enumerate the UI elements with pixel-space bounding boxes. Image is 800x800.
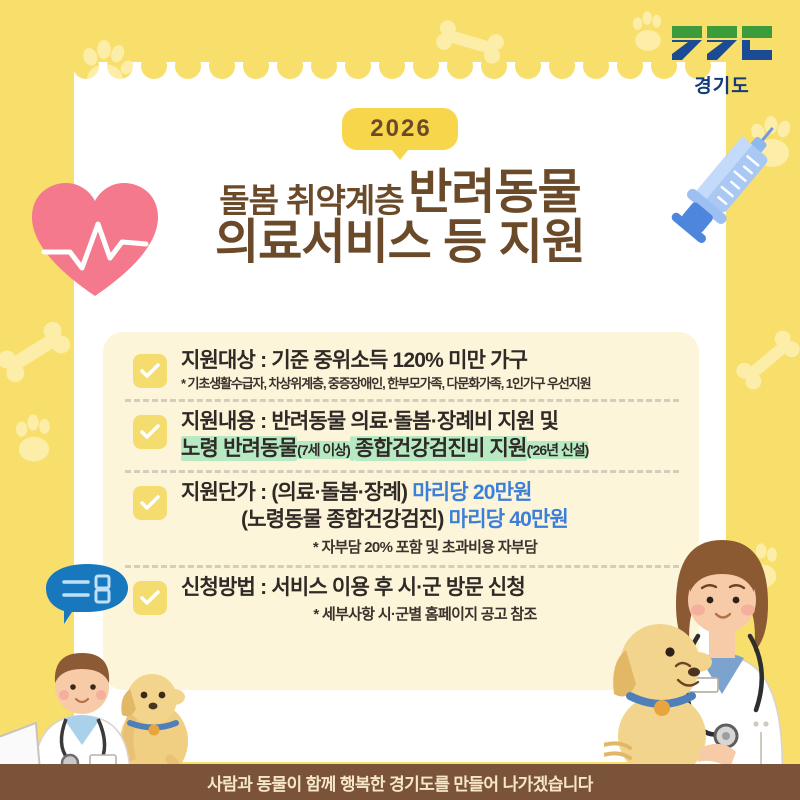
footer-bar: 사람과 동물이 함께 행복한 경기도를 만들어 나가겠습니다 xyxy=(0,764,800,800)
checkbox-icon xyxy=(133,354,167,388)
check-icon xyxy=(140,495,160,511)
checklist-speech-bubble-icon xyxy=(42,562,132,624)
highlight-checkup-text: 종합건강검진비 지원 xyxy=(355,436,527,461)
headline-large-text-2: 의료서비스 등 지원 xyxy=(215,216,585,269)
heart-pulse-icon xyxy=(30,180,160,302)
info-item-support-target: 지원대상 : 기준 중위소득 120% 미만 가구 * 기초생활수급자, 차상위… xyxy=(119,348,683,392)
headline-large-text-1: 반려동물 xyxy=(408,166,581,219)
item-main-text-line2: 노령 반려동물(7세 이상) 종합건강검진비 지원('26년 신설) xyxy=(181,436,683,463)
item-main-text: 지원내용 : 반려동물 의료·돌봄·장례비 지원 및 xyxy=(181,409,683,436)
headline-small-text: 돌봄 취약계층 xyxy=(219,182,403,219)
price-prefix-2: (노령동물 종합건강검진) xyxy=(241,508,444,531)
highlight-senior-pet: 노령 반려동물 xyxy=(181,436,297,461)
price-value-1: 마리당 20만원 xyxy=(412,481,531,504)
info-item-support-price: 지원단가 : (의료·돌봄·장례) 마리당 20만원 (노령동물 종합건강검진)… xyxy=(119,480,683,558)
dog-left xyxy=(120,674,188,778)
checkbox-icon xyxy=(133,486,167,520)
item-note-text: * 기초생활수급자, 차상위계층, 중증장애인, 한부모가족, 다문화가족, 1… xyxy=(181,375,683,393)
check-icon xyxy=(140,424,160,440)
divider xyxy=(125,470,679,473)
check-icon xyxy=(140,363,160,379)
divider xyxy=(125,399,679,402)
price-prefix-1: 지원단가 : (의료·돌봄·장례) xyxy=(181,481,407,504)
female-vet-with-dog-illustration xyxy=(604,500,800,778)
footer-slogan: 사람과 동물이 함께 행복한 경기도를 만들어 나가겠습니다 xyxy=(207,770,593,795)
gyeonggi-logo-mark xyxy=(670,24,774,64)
checkbox-icon xyxy=(133,415,167,449)
card-scalloped-edge xyxy=(74,62,726,88)
price-value-2: 마리당 40만원 xyxy=(449,508,568,531)
info-item-support-content: 지원내용 : 반려동물 의료·돌봄·장례비 지원 및 노령 반려동물(7세 이상… xyxy=(119,409,683,463)
highlight-new-2026: ('26년 신설) xyxy=(527,441,589,459)
item-main-text: 지원대상 : 기준 중위소득 120% 미만 가구 xyxy=(181,348,683,375)
highlight-age-note: (7세 이상) xyxy=(297,441,350,459)
male-vet xyxy=(30,653,130,778)
gyeonggi-do-logo: 경기도 xyxy=(670,24,774,98)
logo-label: 경기도 xyxy=(670,71,774,98)
year-badge: 2026 xyxy=(342,108,457,150)
syringe-icon xyxy=(664,110,794,250)
